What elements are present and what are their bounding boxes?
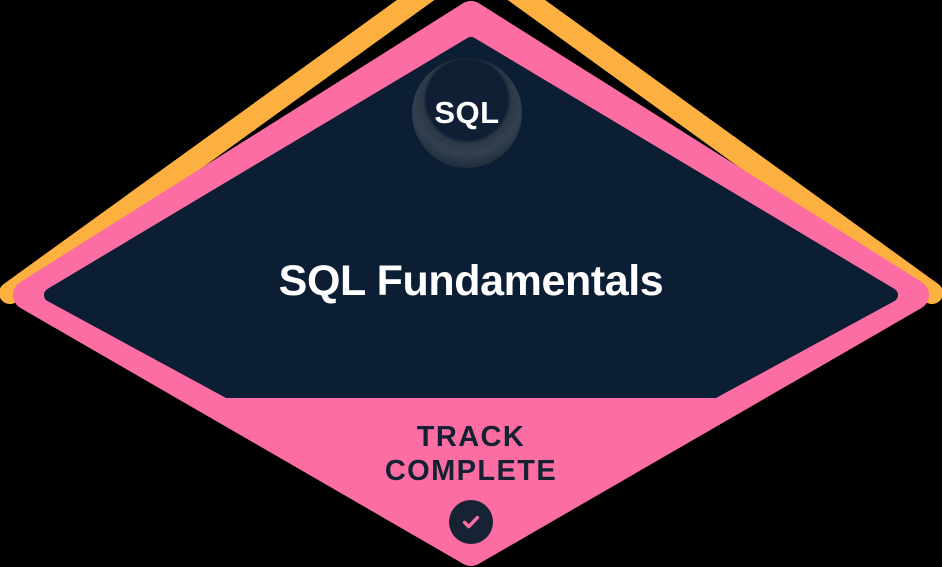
diamond-badge-graphic [0,0,942,567]
track-completion-badge: SQL SQL Fundamentals TRACK COMPLETE [0,0,942,567]
